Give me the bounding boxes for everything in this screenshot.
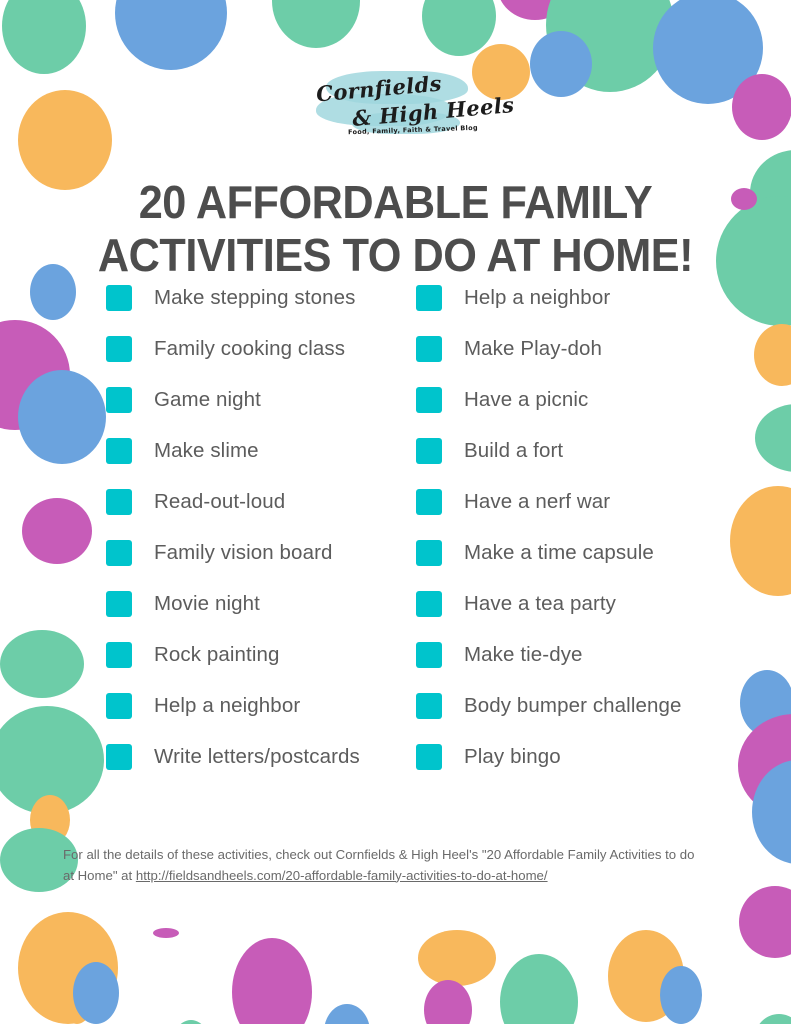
activity-checklist: Make stepping stonesFamily cooking class… [106,272,726,782]
checklist-item[interactable]: Have a tea party [416,578,726,629]
checklist-item-label: Family vision board [154,541,333,565]
checklist-column-left: Make stepping stonesFamily cooking class… [106,272,416,782]
checklist-item[interactable]: Make stepping stones [106,272,416,323]
checkbox-icon[interactable] [416,744,442,770]
checkbox-icon[interactable] [106,693,132,719]
checkbox-icon[interactable] [416,438,442,464]
checkbox-icon[interactable] [106,642,132,668]
page-title-line-1: 20 AFFORDABLE FAMILY [80,176,711,229]
checklist-item-label: Make slime [154,439,259,463]
checkbox-icon[interactable] [106,438,132,464]
checklist-item-label: Rock painting [154,643,280,667]
page-title: 20 AFFORDABLE FAMILY ACTIVITIES TO DO AT… [80,176,711,282]
checklist-item[interactable]: Write letters/postcards [106,731,416,782]
checkbox-icon[interactable] [416,387,442,413]
checklist-item[interactable]: Movie night [106,578,416,629]
checkbox-icon[interactable] [106,336,132,362]
checklist-item-label: Make a time capsule [464,541,654,565]
checklist-item[interactable]: Help a neighbor [416,272,726,323]
checklist-item[interactable]: Rock painting [106,629,416,680]
brand-logo[interactable]: Cornfields & High Heels Food, Family, Fa… [0,68,791,145]
checkbox-icon[interactable] [416,642,442,668]
checklist-item[interactable]: Game night [106,374,416,425]
checklist-item[interactable]: Help a neighbor [106,680,416,731]
checklist-item-label: Help a neighbor [464,286,610,310]
checklist-item-label: Read-out-loud [154,490,285,514]
checkbox-icon[interactable] [416,591,442,617]
flyer-content: Cornfields & High Heels Food, Family, Fa… [0,0,791,1024]
checklist-item[interactable]: Make Play-doh [416,323,726,374]
checklist-item[interactable]: Family cooking class [106,323,416,374]
checklist-item[interactable]: Family vision board [106,527,416,578]
checklist-item-label: Family cooking class [154,337,345,361]
footer-note: For all the details of these activities,… [63,845,701,886]
checkbox-icon[interactable] [416,489,442,515]
checklist-item[interactable]: Read-out-loud [106,476,416,527]
checkbox-icon[interactable] [416,540,442,566]
checklist-item-label: Build a fort [464,439,563,463]
checklist-item[interactable]: Have a nerf war [416,476,726,527]
checklist-item-label: Movie night [154,592,260,616]
checkbox-icon[interactable] [106,285,132,311]
flyer-page: Cornfields & High Heels Food, Family, Fa… [0,0,791,1024]
checklist-item[interactable]: Have a picnic [416,374,726,425]
checklist-item-label: Make stepping stones [154,286,355,310]
checklist-item[interactable]: Make a time capsule [416,527,726,578]
checklist-column-right: Help a neighborMake Play-dohHave a picni… [416,272,726,782]
checklist-item[interactable]: Make tie-dye [416,629,726,680]
checklist-item-label: Have a picnic [464,388,588,412]
checklist-item[interactable]: Build a fort [416,425,726,476]
checklist-item[interactable]: Body bumper challenge [416,680,726,731]
checkbox-icon[interactable] [416,693,442,719]
checklist-item-label: Have a nerf war [464,490,610,514]
checklist-item-label: Write letters/postcards [154,745,360,769]
logo-inner: Cornfields & High Heels Food, Family, Fa… [308,68,484,140]
checklist-item-label: Make tie-dye [464,643,583,667]
checkbox-icon[interactable] [106,387,132,413]
checklist-item[interactable]: Play bingo [416,731,726,782]
checkbox-icon[interactable] [416,285,442,311]
checkbox-icon[interactable] [106,591,132,617]
checkbox-icon[interactable] [106,744,132,770]
checklist-item-label: Help a neighbor [154,694,300,718]
checkbox-icon[interactable] [416,336,442,362]
checklist-item-label: Make Play-doh [464,337,602,361]
checkbox-icon[interactable] [106,489,132,515]
checklist-item-label: Game night [154,388,261,412]
checklist-item[interactable]: Make slime [106,425,416,476]
checklist-item-label: Have a tea party [464,592,616,616]
checklist-item-label: Play bingo [464,745,561,769]
checklist-item-label: Body bumper challenge [464,694,682,718]
footer-link[interactable]: http://fieldsandheels.com/20-affordable-… [136,868,548,883]
checkbox-icon[interactable] [106,540,132,566]
